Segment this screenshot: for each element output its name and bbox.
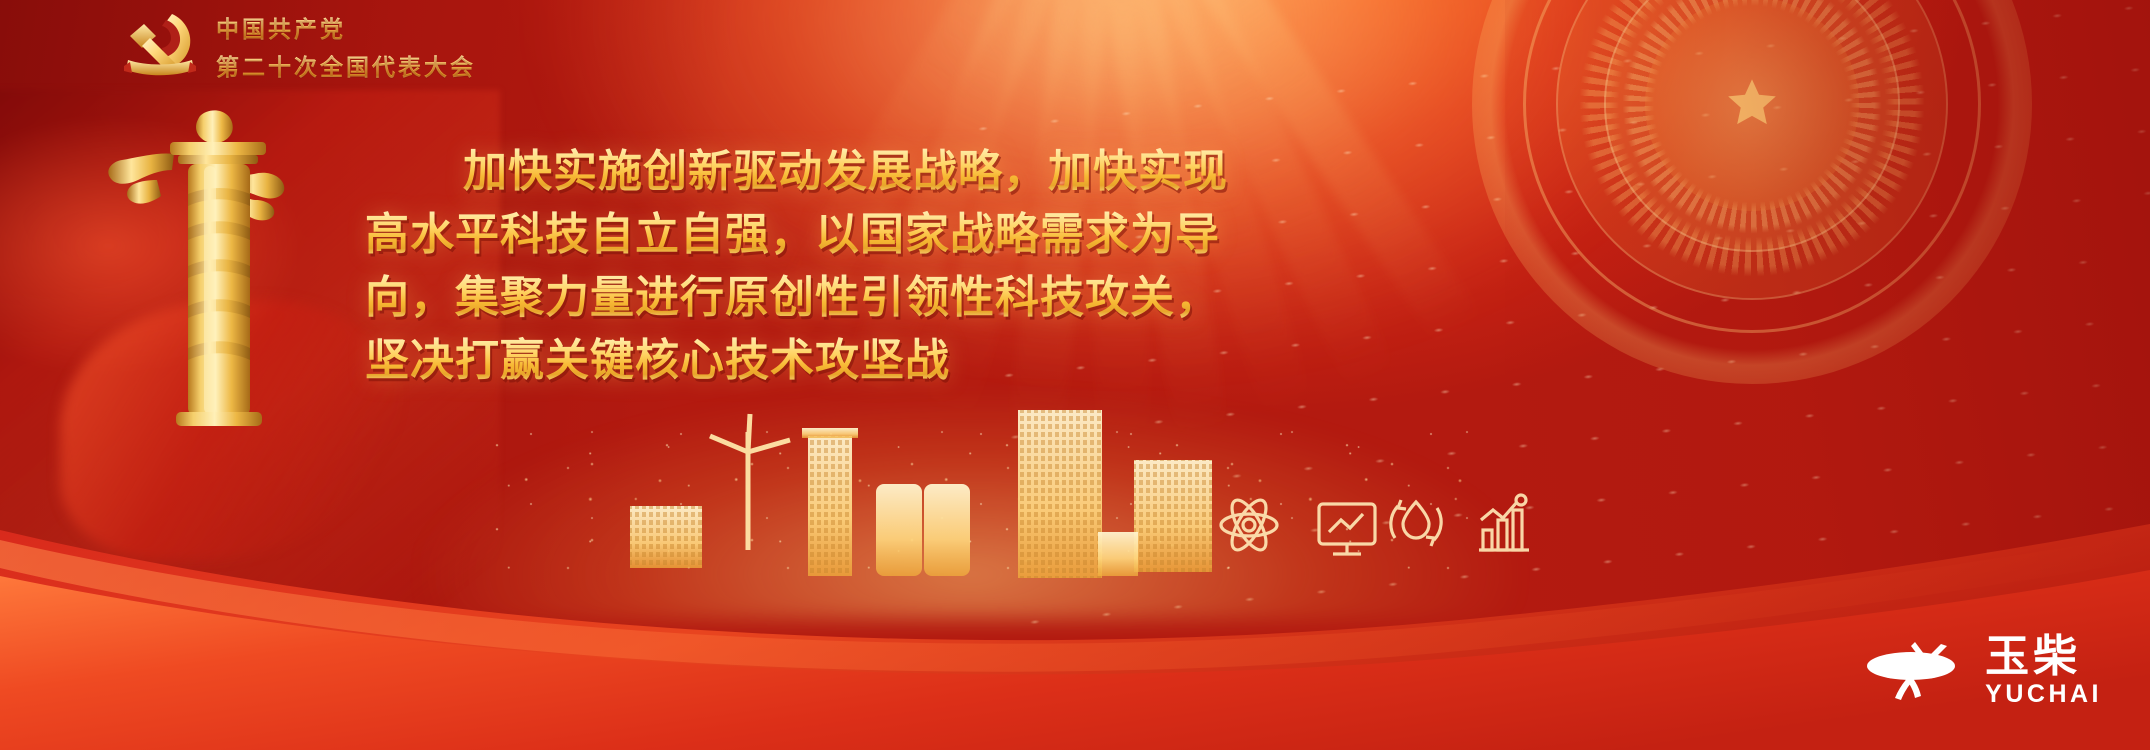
yuchai-name-cn: 玉柴 [1985,634,2081,680]
headline-line-1: 加快实施创新驱动发展战略，加快实现 [365,140,1265,203]
yuchai-logo: 玉柴 YUCHAI [1863,634,2102,708]
cpc-logo-line2: 第二十次全国代表大会 [216,48,476,82]
headline-block: 加快实施创新驱动发展战略，加快实现 高水平科技自立自强，以国家战略需求为导 向，… [365,140,1265,392]
yuchai-name-en: YUCHAI [1985,681,2102,708]
cpc-congress-logo: 中国共产党 第二十次全国代表大会 [118,6,476,82]
headline-line-2: 高水平科技自立自强，以国家战略需求为导 [365,203,1265,266]
yuchai-ellipse-mark-icon [1863,634,1971,708]
huabiao-column-icon [104,108,334,438]
headline-line-4: 坚决打赢关键核心技术攻坚战 [365,329,1265,392]
promo-banner: 中国共产党 第二十次全国代表大会 加快实施创新驱动发展战略，加快实现 高水平科技… [0,0,2150,750]
bottom-silk-wave [0,420,2150,750]
hammer-and-sickle-icon [118,8,202,80]
cpc-logo-line1: 中国共产党 [216,10,476,44]
headline-line-3: 向，集聚力量进行原创性引领性科技攻关， [365,266,1265,329]
